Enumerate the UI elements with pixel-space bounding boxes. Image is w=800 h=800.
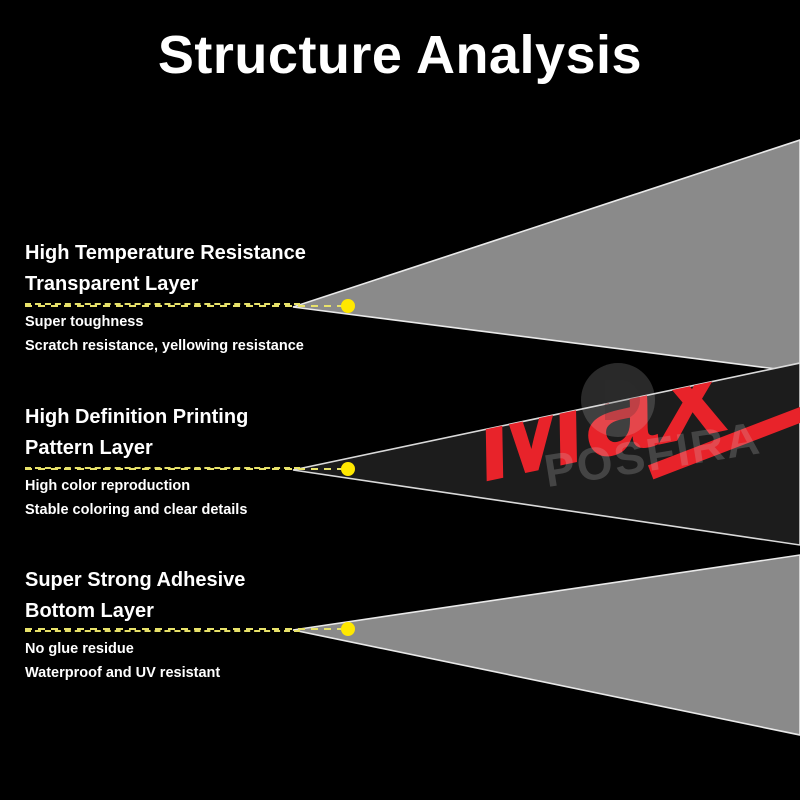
- layer-bullet-2: Scratch resistance, yellowing resistance: [25, 334, 355, 358]
- callout-divider: [25, 630, 300, 632]
- callout-divider: [25, 303, 300, 305]
- watermark-badge-icon: [581, 363, 655, 437]
- layer-bullet-1: High color reproduction: [25, 474, 355, 498]
- page-title: Structure Analysis: [0, 24, 800, 86]
- layer-heading-line2: Pattern Layer: [25, 433, 355, 464]
- layer-heading-line1: High Definition Printing: [25, 402, 355, 433]
- layer-callout-transparent: High Temperature Resistance Transparent …: [25, 238, 355, 358]
- layer-heading-line1: High Temperature Resistance: [25, 238, 355, 269]
- bottom-layer-plane: [293, 555, 800, 735]
- callout-divider: [25, 467, 300, 469]
- layer-shape-transparent: [293, 140, 800, 372]
- layer-shape-bottom: [293, 555, 800, 735]
- transparent-layer-plane: [293, 140, 800, 372]
- layer-bullet-2: Stable coloring and clear details: [25, 498, 355, 522]
- layer-heading-line2: Transparent Layer: [25, 269, 355, 300]
- layer-heading-line1: Super Strong Adhesive: [25, 565, 355, 596]
- layer-callout-bottom: Super Strong Adhesive Bottom Layer No gl…: [25, 565, 355, 685]
- layer-bullet-1: Super toughness: [25, 310, 355, 334]
- layer-callout-pattern: High Definition Printing Pattern Layer H…: [25, 402, 355, 522]
- layer-bullet-2: Waterproof and UV resistant: [25, 661, 355, 685]
- layer-bullet-1: No glue residue: [25, 637, 355, 661]
- layer-heading-line2: Bottom Layer: [25, 596, 355, 627]
- poster-root: Max POSFIRA Structure A: [0, 0, 800, 800]
